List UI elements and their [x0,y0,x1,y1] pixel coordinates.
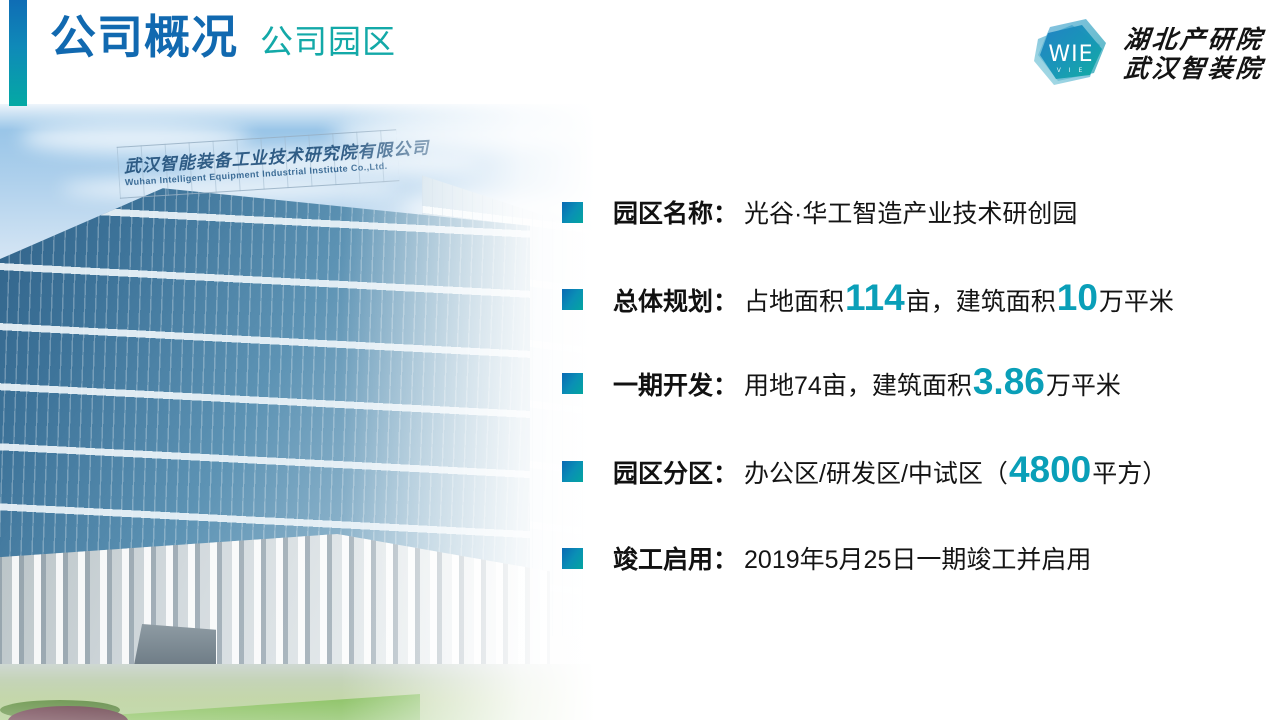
slide-root: 公司概况 公司园区 [0,0,1282,720]
wie-hexagon-icon: WIE V I E [1028,15,1114,93]
header-accent-bar [9,0,27,106]
bullet-square-icon [562,461,583,482]
bullet-square-icon [562,373,583,394]
spec-colon: ： [713,282,738,318]
slide-header: 公司概况 公司园区 [0,0,1282,108]
spec-value-text: 2019年5月25日一期竣工并启用 [744,540,1091,576]
spec-value: 用地74亩，建筑面积3.86万平米 [744,365,1121,402]
spec-list: 园区名称：光谷·华工智造产业技术研创园总体规划：占地面积114亩，建筑面积10万… [562,178,1274,608]
bullet-square-icon [562,548,583,569]
brand-logo: WIE V I E 湖北产研院 武汉智装院 [1028,14,1264,94]
spec-value-text: 亩，建筑面积 [906,282,1056,318]
logo-wordmark: 湖北产研院 武汉智装院 [1124,26,1264,83]
spec-value-text: 光谷·华工智造产业技术研创园 [744,194,1077,230]
spec-highlight-number: 3.86 [972,365,1046,398]
spec-value-text: 办公区/研发区/中试区（ [744,454,1008,490]
bullet-square-icon [562,289,583,310]
header-title-group: 公司概况 公司园区 [50,14,396,60]
spec-colon: ： [713,540,738,576]
spec-value-text: 万平米 [1046,366,1121,402]
photo-backdrop: 武汉智能装备工业技术研究院有限公司 Wuhan Intelligent Equi… [0,104,620,720]
logo-line-2: 武汉智装院 [1123,55,1266,83]
spec-colon: ： [713,454,738,490]
spec-label: 竣工启用 [613,540,713,576]
spec-value-text: 占地面积 [744,282,844,318]
spec-row: 园区分区：办公区/研发区/中试区（4800平方） [562,453,1167,490]
spec-highlight-number: 10 [1056,281,1099,314]
spec-value: 2019年5月25日一期竣工并启用 [744,540,1091,576]
bullet-square-icon [562,202,583,223]
spec-label: 园区分区 [613,454,713,490]
campus-photo: 武汉智能装备工业技术研究院有限公司 Wuhan Intelligent Equi… [0,104,620,720]
spec-value-text: 万平米 [1099,282,1174,318]
svg-text:V I E: V I E [1057,67,1085,74]
spec-label: 总体规划 [613,282,713,318]
page-title: 公司概况 [50,14,238,60]
spec-label: 一期开发 [613,366,713,402]
spec-colon: ： [713,366,738,402]
page-subtitle: 公司园区 [260,25,396,58]
logo-line-1: 湖北产研院 [1123,26,1266,54]
spec-row: 一期开发：用地74亩，建筑面积3.86万平米 [562,365,1121,402]
spec-value-text: 平方） [1092,454,1167,490]
spec-row: 总体规划：占地面积114亩，建筑面积10万平米 [562,281,1174,318]
spec-highlight-number: 114 [844,281,906,314]
spec-row: 竣工启用：2019年5月25日一期竣工并启用 [562,540,1091,576]
spec-row: 园区名称：光谷·华工智造产业技术研创园 [562,194,1077,230]
spec-highlight-number: 4800 [1008,453,1092,486]
spec-value: 光谷·华工智造产业技术研创园 [744,194,1077,230]
spec-value-text: 用地74亩，建筑面积 [744,366,972,402]
svg-text:WIE: WIE [1048,42,1093,67]
spec-value: 占地面积114亩，建筑面积10万平米 [744,281,1174,318]
spec-label: 园区名称 [613,194,713,230]
spec-value: 办公区/研发区/中试区（4800平方） [744,453,1167,490]
spec-colon: ： [713,194,738,230]
